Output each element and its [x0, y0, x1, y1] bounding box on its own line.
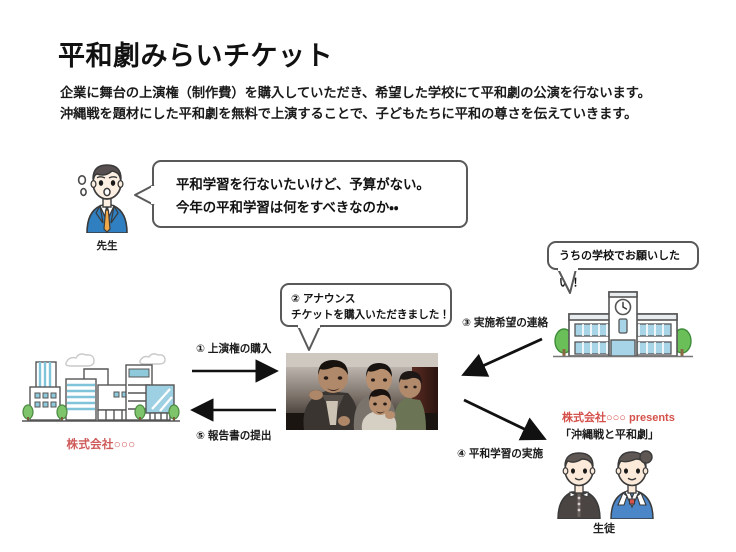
presents-title-line: 「沖縄戦と平和劇」: [560, 426, 659, 442]
announcement-line-1: ② アナウンス: [291, 291, 450, 307]
school-speech-bubble: うちの学校でお願いしたい！: [547, 241, 699, 270]
students-label: 生徒: [548, 520, 660, 536]
company-name-label: 株式会社○○○: [22, 436, 180, 452]
arrow-label-step1: ① 上演権の購入: [196, 341, 271, 356]
teacher-bubble-line-1: 平和学習を行ないたいけど、予算がない。: [176, 173, 466, 196]
page-description: 企業に舞台の上演権（制作費）を購入していただき、希望した学校にて平和劇の公演を行…: [60, 82, 651, 124]
teacher-avatar-icon: [76, 155, 138, 233]
arrow-label-step3: ③ 実施希望の連絡: [462, 315, 548, 330]
description-line-2: 沖縄戦を題材にした平和劇を無料で上演することで、子どもたちに平和の尊さを伝えてい…: [60, 103, 651, 124]
arrow-request: [465, 339, 542, 374]
teacher-label: 先生: [76, 238, 138, 253]
teacher-bubble-line-2: 今年の平和学習は何をすべきなのか・・: [176, 196, 466, 219]
teacher-speech-bubble: 平和学習を行ないたいけど、予算がない。 今年の平和学習は何をすべきなのか・・: [152, 160, 468, 228]
stage-performance-photo: [286, 353, 438, 430]
infographic-page: 平和劇みらいチケット 企業に舞台の上演権（制作費）を購入していただき、希望した学…: [0, 0, 736, 552]
announcement-speech-bubble: ② アナウンス チケットを購入いただきました！: [280, 283, 452, 327]
school-building-icon: [553, 288, 693, 360]
presents-company-line: 株式会社○○○ presents: [562, 409, 675, 425]
description-line-1: 企業に舞台の上演権（制作費）を購入していただき、希望した学校にて平和劇の公演を行…: [60, 82, 651, 103]
students-avatars-icon: [548, 443, 660, 519]
arrow-label-step4: ④ 平和学習の実施: [457, 446, 543, 461]
announcement-bubble-tail-icon: [296, 325, 322, 351]
page-title: 平和劇みらいチケット: [58, 34, 333, 73]
announcement-line-2: チケットを購入いただきました！: [291, 307, 450, 323]
arrow-label-step5: ⑤ 報告書の提出: [196, 428, 271, 443]
teacher-bubble-tail-icon: [133, 184, 155, 206]
arrow-implementation: [464, 400, 543, 438]
company-buildings-icon: [22, 345, 180, 431]
